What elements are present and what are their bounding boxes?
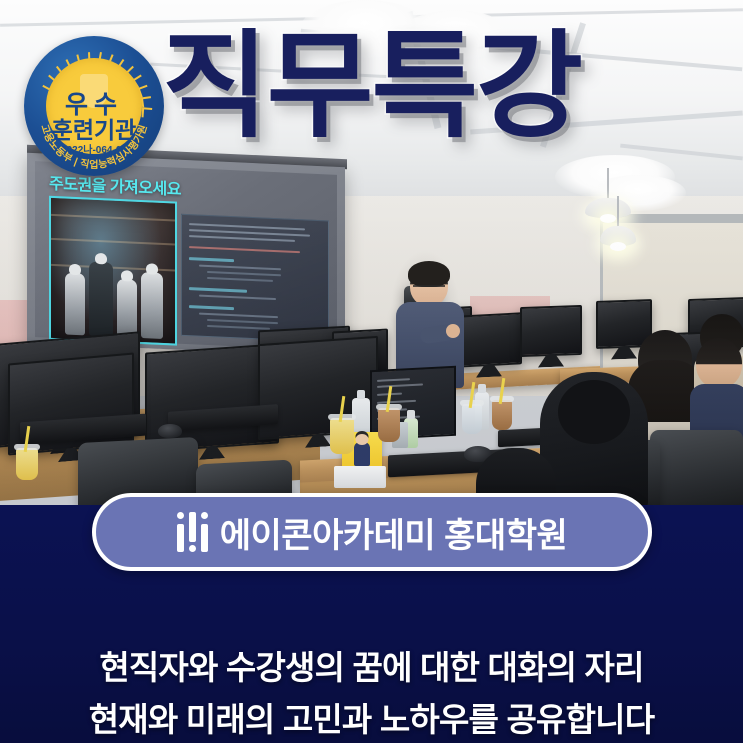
mascot-figure — [354, 442, 370, 466]
certification-badge: 우수 훈련기관 2022나-064-02 (2023.01.~2027.12.)… — [24, 36, 164, 176]
slide-image-shelf — [51, 214, 175, 222]
drink-cup — [462, 404, 482, 434]
pendant-lamp — [600, 196, 636, 252]
lamp-bulb — [610, 242, 626, 251]
slide-text-line — [199, 265, 281, 271]
drink-cup — [16, 448, 38, 480]
slide-robot-figure — [117, 279, 137, 338]
drink-cup — [330, 418, 354, 454]
slide-image-shelf — [51, 238, 175, 246]
svg-text:고용노동부 | 직업능력심사평가원: 고용노동부 | 직업능력심사평가원 — [38, 123, 150, 171]
monitor — [520, 305, 582, 357]
promo-card: 주도권을 가져오세요 — [0, 0, 743, 743]
glasses-icon — [413, 285, 445, 293]
slide-text-line — [199, 313, 278, 319]
slide-text-line — [189, 305, 234, 310]
academy-logo-icon — [177, 512, 208, 552]
drink-cup — [492, 400, 512, 430]
slide-text-line — [189, 257, 234, 262]
white-box — [334, 466, 386, 488]
student-hooded — [540, 372, 648, 512]
presentation-slide: 주도권을 가져오세요 — [35, 161, 337, 351]
slide-image — [49, 196, 177, 346]
brand-pill[interactable]: 에이콘아카데미 홍대학원 — [92, 493, 652, 571]
slide-text-line — [207, 319, 278, 324]
tagline-line-2: 현재와 미래의 고민과 노하우를 공유합니다 — [0, 693, 743, 741]
tagline-line-1: 현직자와 수강생의 꿈에 대한 대화의 자리 — [0, 641, 743, 689]
slide-text-line — [199, 295, 276, 300]
student-head — [696, 338, 742, 388]
brand-name: 에이콘아카데미 홍대학원 — [220, 508, 568, 557]
chair — [650, 430, 743, 512]
badge-arc-text: 고용노동부 | 직업능력심사평가원 — [24, 36, 164, 176]
slide-robot-figure — [141, 272, 163, 339]
slide-text-panel — [181, 214, 329, 343]
mouse — [158, 424, 182, 438]
drink-cup — [378, 408, 400, 442]
slide-robot-figure — [65, 273, 85, 336]
slide-text-line — [207, 271, 281, 276]
lamp-cord — [617, 196, 619, 230]
instructor-hand — [446, 324, 460, 338]
slide-robot-figure — [89, 262, 113, 337]
slide-text-line — [207, 325, 270, 330]
projector-screen: 주도권을 가져오세요 — [27, 153, 345, 357]
instructor-hair — [408, 261, 450, 287]
bottom-panel: 에이콘아카데미 홍대학원 현직자와 수강생의 꿈에 대한 대화의 자리 현재와 … — [0, 505, 743, 743]
slide-text-line — [207, 277, 273, 282]
